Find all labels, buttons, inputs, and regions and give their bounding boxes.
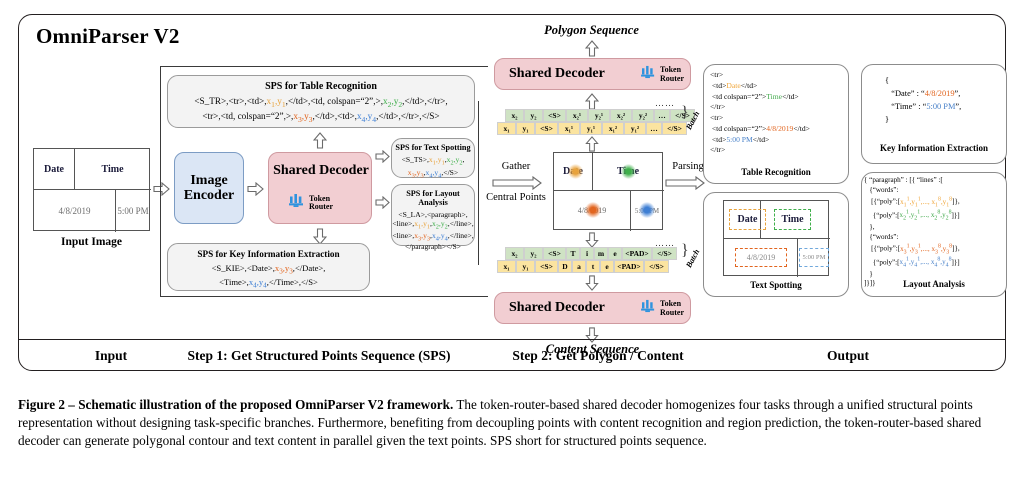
image-encoder-block[interactable]: Image Encoder [174,152,244,224]
gather-label-line1: Gather [483,161,549,172]
rail-top-to-decoder [160,66,488,67]
polygon-ellipsis: …… [655,98,675,108]
sequence-token: </S> [662,122,687,135]
content-token-row-yellow: x₁y₁<S>Date<PAD></S> [497,260,669,273]
token-router-polygon: TokenRouter [641,65,684,84]
arrow-parsing [665,176,705,190]
text-spotting-time-value: 5:00 PM [799,248,829,267]
output-kie-caption: Key Information Extraction [862,143,1006,153]
arrow-decoder-up [313,132,327,149]
token-router-line2: Router [309,202,333,211]
sequence-token: x₁ [497,122,516,135]
input-image-caption: Input Image [33,236,150,248]
sequence-token: </S> [644,260,669,273]
sequence-token: y₂¹ [588,109,610,122]
sps-layout-analysis-line2: <line>,x1,y1,x2,y2,</line>, [392,219,474,231]
output-layout-analysis-code: { “paragraph” : [{ “lines” :[ {“words”: … [864,176,960,289]
sequence-token: <S> [543,247,566,260]
sps-layout-analysis-box: SPS for Layout Analysis <S_LA>,<paragrap… [391,184,475,246]
point-blob-date-value [585,202,601,218]
point-blob-time-value [639,202,655,218]
gather-label-line2: Central Points [476,192,556,203]
sps-layout-analysis-line1: <S_LA>,<paragraph>, [392,210,474,219]
sequence-token: e [600,260,614,273]
token-router-main: TokenRouter [289,193,333,213]
input-table-value-date: 4/8/2019 [34,189,115,232]
caption-bold: Figure 2 – Schematic illustration of the… [18,397,453,412]
sps-kie-title: SPS for Key Information Extraction [168,249,369,259]
sps-layout-analysis-title: SPS for Layout Analysis [392,189,474,207]
input-image-table: Date Time 4/8/2019 5:00 PM [33,148,150,231]
footer-divider [19,339,1005,340]
output-text-spotting-caption: Text Spotting [704,280,848,290]
sps-layout-analysis-line4: </paragraph></S> [392,242,474,251]
central-points-table: Date Time 4/8/2019 5:00 PM [553,152,663,230]
token-router-line2: Router [660,74,684,83]
sequence-token: x₂¹ [566,109,588,122]
point-blob-time-header [621,164,636,179]
sps-text-spotting-title: SPS for Text Spotting [392,143,474,152]
sps-text-spotting-line1: <S_TS>,x1,y1,x2,y2, [392,155,474,167]
sequence-token: x₁¹ [558,122,580,135]
sequence-token: … [646,122,662,135]
page-title: OmniParser V2 [36,24,180,49]
arrow-input-to-encoder [153,182,170,196]
token-router-content: TokenRouter [641,299,684,318]
output-table-recognition-code: <tr> <td>Date</td> <td colspan=“2”>Time<… [710,70,810,156]
polygon-token-row-green: x₂y₂<S>x₂¹y₂¹x₂²y₂²…</S> [505,109,695,122]
shared-decoder-content[interactable]: Shared Decoder TokenRouter [494,292,691,324]
sequence-token: a [572,260,586,273]
sps-table-recognition-line2: <tr>,<td, colspan=“2”,>,x3,y3,</td>,<td>… [168,111,474,124]
token-router-line2: Router [660,308,684,317]
arrow-tokens-to-content-decoder [585,275,599,291]
arrow-gather [492,176,542,190]
point-blob-date-header [568,164,583,179]
sequence-token: <S> [535,260,558,273]
figure-caption: Figure 2 – Schematic illustration of the… [18,396,1006,449]
sequence-token: x₁² [602,122,624,135]
figure-page: OmniParser V2 Date Time 4/8/2019 5:00 PM… [0,0,1024,482]
sequence-token: t [586,260,600,273]
sequence-token: x₂ [505,109,524,122]
sequence-token: y₁² [624,122,646,135]
arrow-gather-down [585,232,599,248]
sps-table-recognition-title: SPS for Table Recognition [168,81,474,92]
output-kie-code: { “Date” : “4/8/2019”, “Time” : “5:00 PM… [885,74,961,126]
sequence-token: y₁ [516,260,535,273]
sequence-token: <PAD> [622,247,652,260]
sps-kie-line2: <Time>,x4,y4,</Time>,</S> [168,277,369,290]
sequence-token: <PAD> [614,260,644,273]
content-token-row-green: x₂y₂<S>Time<PAD></S> [505,247,677,260]
stage-label-output: Output [800,348,896,364]
output-text-spotting-table: Date Time 4/8/2019 5:00 PM [723,200,829,276]
rail-bottom-to-decoder [160,296,488,297]
shared-decoder-content-label: Shared Decoder [509,300,605,316]
sequence-token: y₂ [524,109,543,122]
sequence-token: y₁ [516,122,535,135]
arrow-decoder-to-layout-analysis [375,196,390,209]
stage-label-step2: Step 2: Get Polygon / Content [487,348,709,364]
input-table-header-date: Date [34,149,74,189]
sequence-token: x₁ [497,260,516,273]
sequence-token: <S> [543,109,566,122]
arrow-polygon-up [585,40,599,57]
rail-right-vertical [478,101,479,265]
token-router-icon [641,65,657,84]
sequence-token: D [558,260,572,273]
text-spotting-time-header: Time [774,209,811,230]
sps-table-recognition-line1: <S_TR>,<tr>,<td>,x1,y1,</td>,<td, colspa… [168,96,474,109]
input-table-value-time: 5:00 PM [115,189,151,232]
text-spotting-date-value: 4/8/2019 [735,248,787,267]
arrow-content-down [585,327,599,343]
shared-decoder-polygon[interactable]: Shared Decoder TokenRouter [494,58,691,90]
sequence-token: x₂² [610,109,632,122]
sequence-token: x₂ [505,247,524,260]
sps-text-spotting-box: SPS for Text Spotting <S_TS>,x1,y1,x2,y2… [391,138,475,178]
text-spotting-date-header: Date [729,209,766,230]
polygon-sequence-label: Polygon Sequence [494,23,689,38]
sequence-token: i [580,247,594,260]
sps-text-spotting-line2: x3,y3,x4,y4,</S> [392,168,474,180]
sequence-token: m [594,247,608,260]
output-table-recognition-caption: Table Recognition [704,167,848,177]
encoder-label-line1: Image [190,173,227,188]
arrow-tokens-to-polygon-decoder [585,93,599,110]
shared-decoder-polygon-label: Shared Decoder [509,66,605,82]
sps-layout-analysis-line3: <line>,x3,y3,x4,y4,</line>, [392,231,474,243]
polygon-token-row-yellow: x₁y₁<S>x₁¹y₁¹x₁²y₁²…</S> [497,122,687,135]
sequence-token: </S> [652,247,677,260]
sps-table-recognition-box: SPS for Table Recognition <S_TR>,<tr>,<t… [167,75,475,128]
token-router-icon [641,299,657,318]
sequence-token: y₂ [524,247,543,260]
shared-decoder-main[interactable]: Shared Decoder TokenRouter [268,152,372,224]
sequence-token: e [608,247,622,260]
sequence-token: <S> [535,122,558,135]
input-table-header-time: Time [74,149,151,189]
sps-kie-line1: <S_KIE>,<Date>,x3,y3,</Date>, [168,263,369,276]
token-router-icon [289,193,306,213]
rail-left-vertical [160,66,161,297]
arrow-decoder-to-text-spotting [375,150,390,163]
sequence-token: y₂² [632,109,654,122]
sequence-token: y₁¹ [580,122,602,135]
sequence-token: T [566,247,580,260]
shared-decoder-main-label: Shared Decoder [269,163,373,179]
stage-label-step1: Step 1: Get Structured Points Sequence (… [152,348,486,364]
sequence-token: … [654,109,670,122]
encoder-label-line2: Encoder [184,188,235,203]
arrow-gather-up [585,136,599,152]
arrow-encoder-to-decoder [247,182,264,196]
stage-label-input: Input [76,348,146,364]
sps-kie-box: SPS for Key Information Extraction <S_KI… [167,243,370,291]
